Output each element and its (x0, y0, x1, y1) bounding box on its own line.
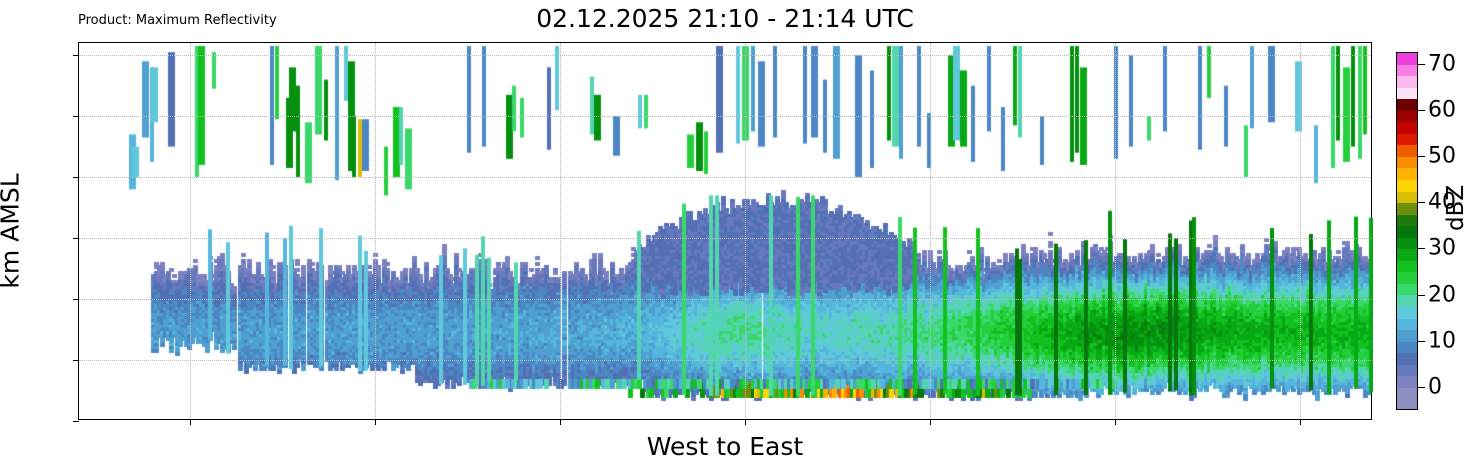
colorbar-band (1397, 157, 1417, 169)
colorbar-band (1397, 295, 1417, 307)
colorbar-tick-label: 50 (1428, 143, 1456, 168)
colorbar-band (1397, 238, 1417, 250)
x-tick-mark (1300, 419, 1301, 425)
colorbar-tick-mark (1418, 341, 1425, 342)
x-tick-mark (930, 419, 931, 425)
colorbar-band (1397, 134, 1417, 146)
colorbar-tick-label: 10 (1428, 328, 1456, 353)
colorbar-band (1397, 249, 1417, 261)
colorbar-band (1397, 145, 1417, 157)
colorbar-band (1397, 261, 1417, 273)
colorbar-axis-label: dBZ (1443, 185, 1469, 231)
colorbar-band (1397, 353, 1417, 365)
colorbar-band (1397, 284, 1417, 296)
y-tick-mark (73, 116, 79, 117)
y-axis-label: km AMSL (0, 173, 25, 288)
colorbar-tick-mark (1418, 110, 1425, 111)
x-tick-mark (190, 419, 191, 425)
colorbar-tick-mark (1418, 202, 1425, 203)
x-tick-mark (745, 419, 746, 425)
colorbar-band (1397, 203, 1417, 215)
colorbar-tick-mark (1418, 156, 1425, 157)
colorbar-band (1397, 111, 1417, 123)
colorbar-tick-mark (1418, 64, 1425, 65)
colorbar-band (1397, 388, 1417, 410)
colorbar-gradient (1396, 52, 1418, 410)
colorbar-tick-label: 60 (1428, 97, 1456, 122)
colorbar-band (1397, 319, 1417, 331)
colorbar-band (1397, 168, 1417, 180)
colorbar-band (1397, 376, 1417, 388)
colorbar-band (1397, 53, 1417, 65)
colorbar-band (1397, 88, 1417, 100)
colorbar-tick-mark (1418, 248, 1425, 249)
colorbar-tick-label: 20 (1428, 282, 1456, 307)
colorbar-tick-label: 70 (1428, 51, 1456, 76)
x-tick-mark (560, 419, 561, 425)
x-tick-mark (375, 419, 376, 425)
colorbar-band (1397, 307, 1417, 319)
y-tick-mark (73, 177, 79, 178)
x-axis-label: West to East (78, 432, 1372, 461)
colorbar-band (1397, 65, 1417, 77)
colorbar-band (1397, 99, 1417, 111)
colorbar-tick-label: 0 (1428, 374, 1442, 399)
colorbar-band (1397, 272, 1417, 284)
colorbar-band (1397, 226, 1417, 238)
colorbar-band (1397, 330, 1417, 342)
y-tick-mark (73, 421, 79, 422)
colorbar-band (1397, 192, 1417, 204)
colorbar-band (1397, 365, 1417, 377)
colorbar-tick-mark (1418, 387, 1425, 388)
y-tick-mark (73, 299, 79, 300)
radar-cross-section-plot[interactable] (78, 42, 1372, 420)
colorbar-band (1397, 342, 1417, 354)
y-tick-mark (73, 55, 79, 56)
radar-reflectivity-canvas (79, 43, 1373, 421)
colorbar-band (1397, 122, 1417, 134)
colorbar-tick-label: 30 (1428, 236, 1456, 261)
y-tick-mark (73, 238, 79, 239)
colorbar-band (1397, 76, 1417, 88)
y-tick-mark (73, 360, 79, 361)
colorbar-band (1397, 215, 1417, 227)
x-tick-mark (1115, 419, 1116, 425)
product-label: Product: Maximum Reflectivity (78, 13, 277, 28)
colorbar-band (1397, 180, 1417, 192)
colorbar-tick-mark (1418, 295, 1425, 296)
colorbar[interactable]: 010203040506070 (1396, 52, 1418, 410)
